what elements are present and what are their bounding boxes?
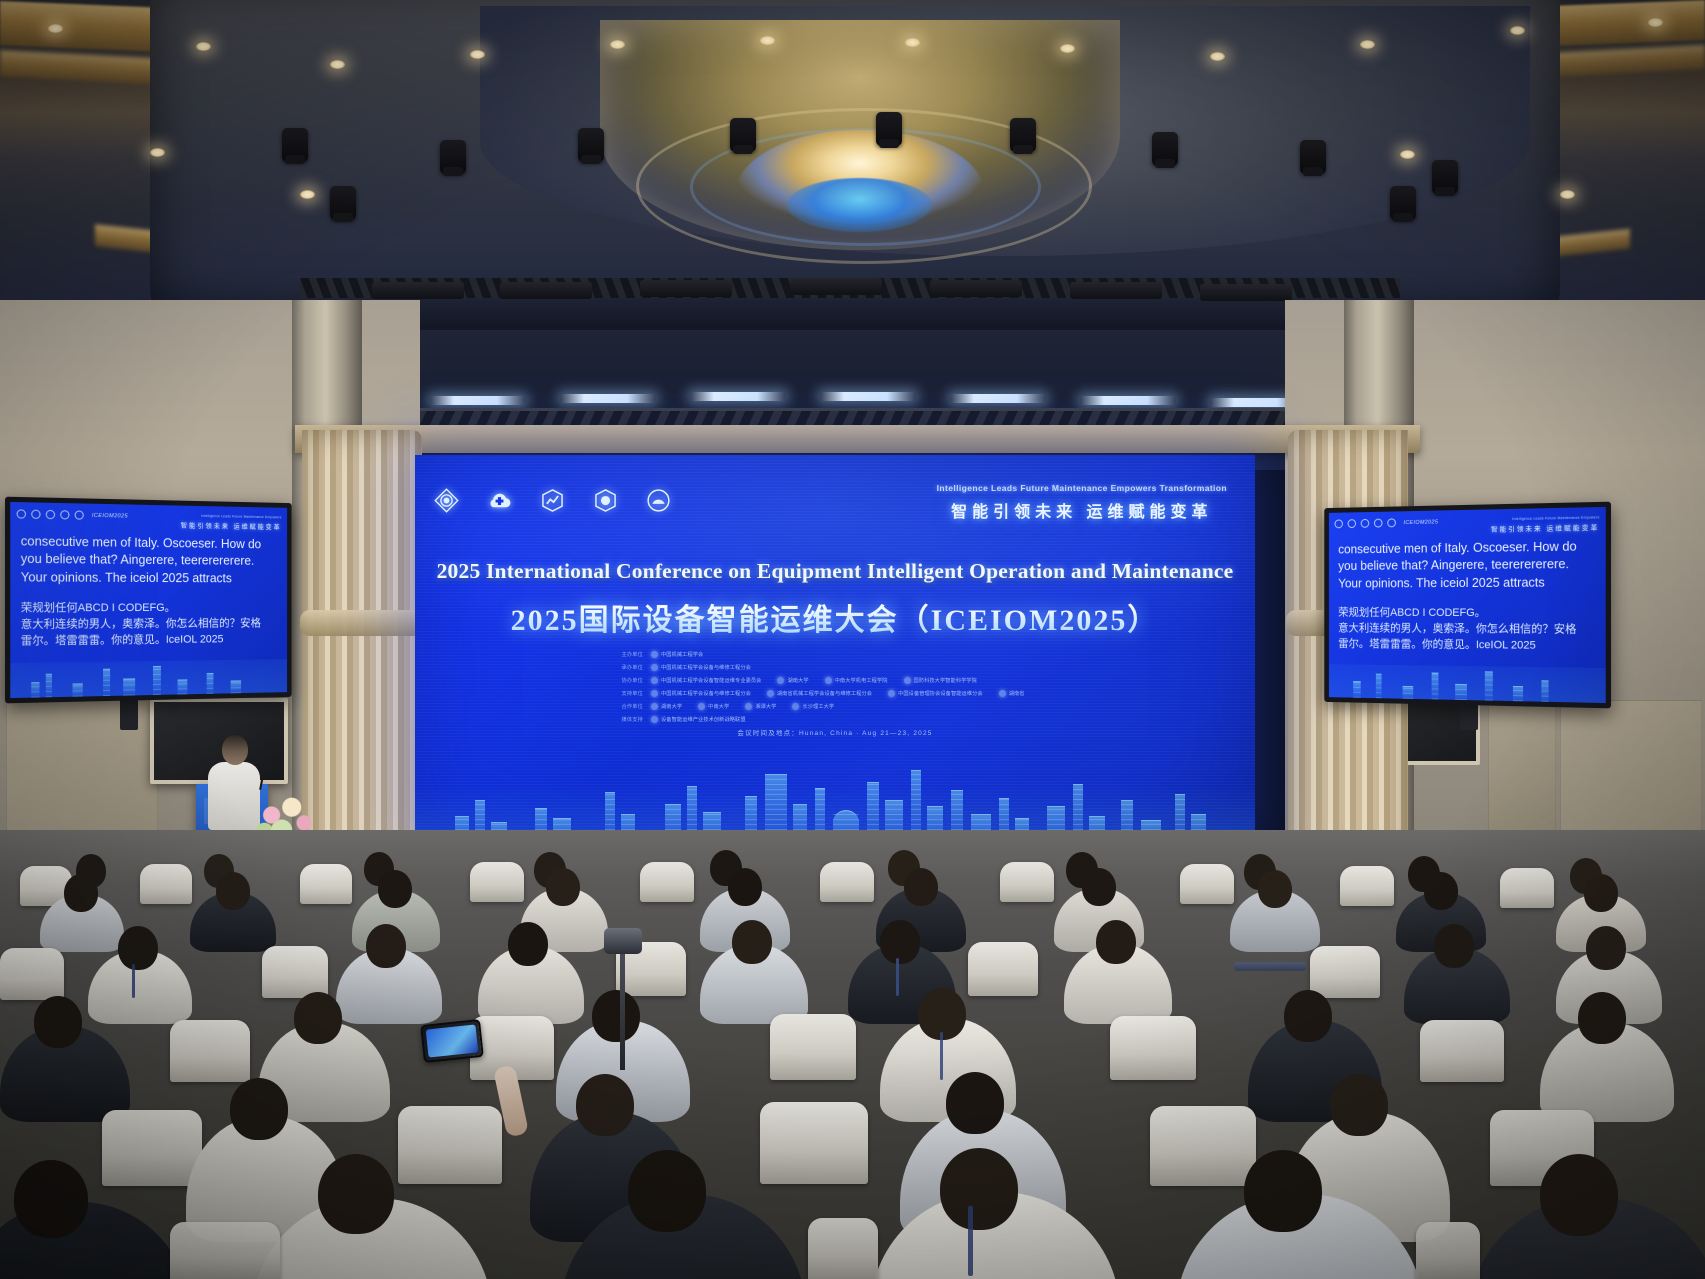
downlight (760, 36, 775, 45)
audience-head (34, 996, 82, 1048)
stage-spotlight (282, 128, 308, 162)
downlight (150, 148, 165, 157)
chair (1420, 1020, 1504, 1082)
chair (1110, 1016, 1196, 1080)
stage-spotlight (730, 118, 756, 152)
audience-head-foreground (1540, 1154, 1618, 1236)
audience-head-foreground (14, 1160, 88, 1238)
chair (1340, 866, 1394, 906)
audience-head-foreground (318, 1154, 394, 1234)
audience-head (880, 920, 920, 964)
monitor-slogan-left: Intelligence Leads Future Maintenance Em… (181, 514, 282, 532)
downlight (905, 38, 920, 47)
audience-head (904, 868, 938, 906)
monitor-slogan-cn-left: 智能引领未来 运维赋能变革 (181, 520, 282, 532)
tube-light (560, 394, 656, 403)
audience-head (294, 992, 342, 1044)
chair (968, 942, 1038, 996)
truss-light-fixture (930, 280, 1022, 297)
tube-light (690, 392, 786, 401)
chair (760, 1102, 868, 1184)
lanyard (896, 958, 899, 996)
side-monitor-left-screen: ICEIOM2025 Intelligence Leads Future Mai… (10, 502, 287, 698)
audience-head (216, 872, 250, 910)
cloud-icon (1348, 519, 1356, 528)
stage-spotlight (876, 112, 902, 146)
lanyard (940, 1032, 943, 1080)
side-monitor-right[interactable]: ICEIOM2025 Intelligence Leads Future Mai… (1324, 502, 1611, 709)
audience-head-foreground (940, 1148, 1018, 1230)
target-icon (1334, 519, 1342, 528)
monitor-skyline-left (10, 659, 287, 698)
audience-head (576, 1074, 634, 1136)
audience-head (1330, 1074, 1388, 1136)
tube-light (430, 396, 526, 405)
caption-cn-line-2: 意大利连续的男人，奥索泽。你怎么相信的？安格 (21, 616, 280, 633)
cloud-icon (31, 510, 40, 519)
caption-cn-line-3: 雷尔。塔雷雷雷。你的意见。IceIOL 2025 (1338, 637, 1597, 655)
caption-cn-line-1: 荣规划任何ABCD I CODEFG。 (1338, 606, 1597, 622)
monitor-slogan-cn-right: 智能引领未来 运维赋能变革 (1491, 521, 1599, 533)
monitor-slogan-right: Intelligence Leads Future Maintenance Em… (1491, 515, 1599, 533)
chair (1180, 864, 1234, 904)
monitor-caption-en-right: consecutive men of Italy. Oscoeser. How … (1338, 538, 1597, 592)
hexagon-icon (60, 510, 69, 519)
shield-icon (75, 510, 84, 519)
truss-light-fixture (790, 278, 882, 295)
caption-cn-line-2: 意大利连续的男人，奥索泽。你怎么相信的？安格 (1338, 621, 1597, 638)
chart-icon (1361, 519, 1369, 528)
audience-head (508, 922, 548, 966)
audience-head (1424, 872, 1458, 910)
wall-panel (1488, 690, 1556, 832)
chair (808, 1218, 878, 1279)
chair (820, 862, 874, 902)
chair (1310, 946, 1380, 998)
downlight (196, 42, 211, 51)
tube-light (820, 392, 916, 401)
monitor-slogan-en-right: Intelligence Leads Future Maintenance Em… (1491, 515, 1599, 521)
chair (1150, 1106, 1256, 1186)
side-monitor-left[interactable]: ICEIOM2025 Intelligence Leads Future Mai… (5, 497, 292, 704)
chair (0, 948, 64, 1000)
audience-head (118, 926, 158, 970)
stage-spotlight (1432, 160, 1458, 194)
caption-cn-line-1: 荣规划任何ABCD I CODEFG。 (21, 601, 280, 617)
truss-light-fixture (640, 280, 732, 297)
stage-spotlight (1300, 140, 1326, 174)
chair (102, 1110, 202, 1186)
stage-valance (295, 425, 1420, 453)
audience-area (0, 830, 1705, 1279)
stage-spotlight (1010, 118, 1036, 152)
stage-spotlight (330, 186, 356, 220)
lanyard (132, 964, 135, 998)
audience-phone[interactable] (420, 1019, 484, 1063)
chair (1416, 1222, 1480, 1279)
downlight (48, 24, 63, 33)
truss-light-fixture (1200, 284, 1292, 301)
lanyard (968, 1206, 973, 1276)
curtain-tieback (300, 610, 424, 636)
downlight (1400, 150, 1415, 159)
monitor-slogan-en-left: Intelligence Leads Future Maintenance Em… (181, 514, 282, 520)
chair (398, 1106, 502, 1184)
chair (262, 946, 328, 998)
downlight (1510, 26, 1525, 35)
chair (170, 1020, 250, 1082)
audience-head (732, 920, 772, 964)
audience-head (1096, 920, 1136, 964)
downlight (1560, 190, 1575, 199)
stage-spotlight (578, 128, 604, 162)
audience-head (378, 870, 412, 908)
audience-head (1284, 990, 1332, 1042)
camera-tripod (620, 950, 625, 1070)
audience-head (1434, 924, 1474, 968)
stage-spotlight (1152, 132, 1178, 166)
monitor-icon-row-right: ICEIOM2025 (1334, 517, 1438, 528)
chair (1000, 862, 1054, 902)
hexagon-icon (1374, 519, 1383, 528)
monitor-brand-left: ICEIOM2025 (92, 512, 128, 519)
audience-head (1578, 992, 1626, 1044)
downlight (1210, 52, 1225, 61)
tube-light (950, 394, 1046, 403)
monitor-caption-en-left: consecutive men of Italy. Oscoeser. How … (21, 533, 280, 587)
conference-photo: Intelligence Leads Future Maintenance Em… (0, 0, 1705, 1279)
caption-cn-line-3: 雷尔。塔雷雷雷。你的意见。IceIOL 2025 (21, 632, 280, 650)
downlight (1060, 44, 1075, 53)
tube-light (1080, 396, 1176, 405)
audience-head (728, 868, 762, 906)
audience-head (366, 924, 406, 968)
audience-head (1586, 926, 1626, 970)
downlight (330, 60, 345, 69)
chair (1500, 868, 1554, 908)
audience-head (1082, 868, 1116, 906)
stage-spotlight (440, 140, 466, 174)
monitor-brand-right: ICEIOM2025 (1404, 519, 1439, 526)
chair (770, 1014, 856, 1080)
audience-head (1584, 874, 1618, 912)
audience-head (546, 868, 580, 906)
main-led-screen[interactable]: Intelligence Leads Future Maintenance Em… (415, 455, 1255, 845)
chair (140, 864, 192, 904)
downlight (300, 190, 315, 199)
side-monitor-right-screen: ICEIOM2025 Intelligence Leads Future Mai… (1329, 507, 1606, 703)
truss-light-fixture (1070, 282, 1162, 299)
monitor-caption-cn-left: 荣规划任何ABCD I CODEFG。 意大利连续的男人，奥索泽。你怎么相信的？… (21, 601, 280, 650)
truss-light-fixture (500, 282, 592, 299)
downlight (1360, 40, 1375, 49)
stage-spotlight (1390, 186, 1416, 220)
chair (640, 862, 694, 902)
audience-head (946, 1072, 1004, 1134)
screen-scanlines (415, 455, 1255, 845)
downlight (610, 40, 625, 49)
downlight (1648, 18, 1663, 27)
chair (470, 862, 524, 902)
chart-icon (46, 510, 55, 519)
target-icon (17, 509, 26, 518)
speaker-head (222, 735, 248, 765)
monitor-skyline-right (1329, 664, 1606, 703)
monitor-icon-row-left: ICEIOM2025 (17, 509, 128, 520)
downlight (470, 50, 485, 59)
audience-head-foreground (628, 1150, 706, 1232)
chair (300, 864, 352, 904)
audience-head (64, 874, 98, 912)
shield-icon (1387, 518, 1396, 527)
audience-head (230, 1078, 288, 1140)
chair-seat-band (1234, 962, 1306, 971)
audience-head (592, 990, 640, 1042)
truss-light-fixture (372, 282, 464, 299)
audience-head (1258, 870, 1292, 908)
monitor-caption-cn-right: 荣规划任何ABCD I CODEFG。 意大利连续的男人，奥索泽。你怎么相信的？… (1338, 606, 1597, 655)
audience-head-foreground (1244, 1150, 1322, 1232)
chair (170, 1222, 280, 1279)
